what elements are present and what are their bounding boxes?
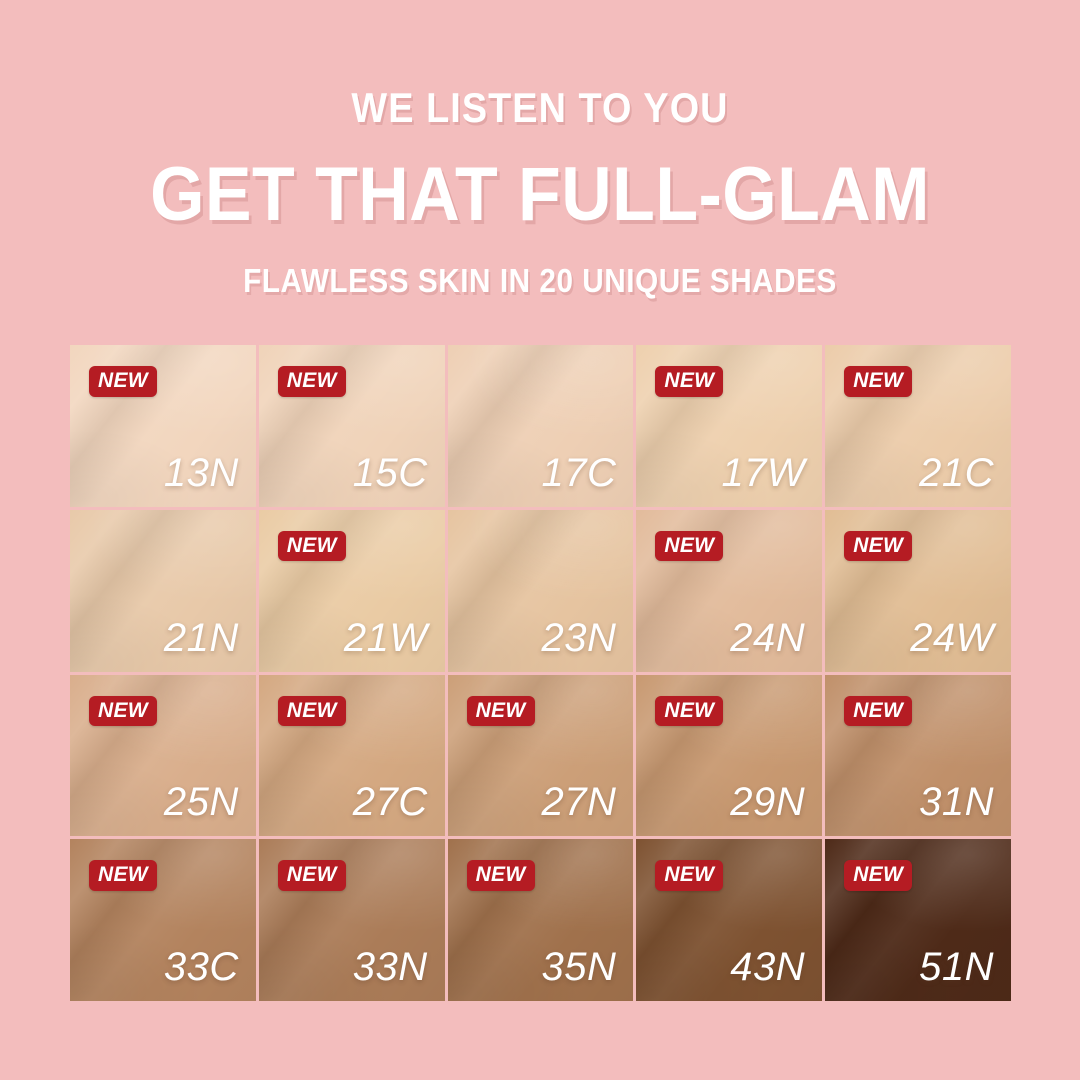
new-badge: NEW	[278, 696, 346, 727]
new-badge: NEW	[467, 696, 535, 727]
shade-swatch-27n[interactable]: NEW27N	[448, 675, 634, 837]
shade-code-label: 51N	[919, 947, 994, 987]
new-badge: NEW	[655, 366, 723, 397]
shade-swatch-21c[interactable]: NEW21C	[825, 345, 1011, 507]
shade-code-label: 21W	[344, 618, 428, 658]
shade-swatch-31n[interactable]: NEW31N	[825, 675, 1011, 837]
new-badge: NEW	[844, 531, 912, 562]
shade-code-label: 24W	[910, 618, 994, 658]
headline-subtitle: FLAWLESS SKIN IN 20 UNIQUE SHADES	[54, 264, 1026, 299]
shade-code-label: 33C	[164, 947, 239, 987]
shade-swatch-15c[interactable]: NEW15C	[259, 345, 445, 507]
shade-swatch-21n[interactable]: 21N	[70, 510, 256, 672]
new-badge: NEW	[844, 366, 912, 397]
new-badge: NEW	[89, 696, 157, 727]
shade-swatch-29n[interactable]: NEW29N	[636, 675, 822, 837]
shade-swatch-35n[interactable]: NEW35N	[448, 839, 634, 1001]
shade-code-label: 17W	[721, 453, 805, 493]
shade-code-label: 35N	[542, 947, 617, 987]
new-badge: NEW	[655, 696, 723, 727]
shade-code-label: 25N	[164, 782, 239, 822]
shade-swatch-21w[interactable]: NEW21W	[259, 510, 445, 672]
shade-code-label: 21C	[919, 453, 994, 493]
shade-code-label: 21N	[164, 618, 239, 658]
shade-swatch-23n[interactable]: 23N	[448, 510, 634, 672]
shade-swatch-33c[interactable]: NEW33C	[70, 839, 256, 1001]
shade-code-label: 33N	[353, 947, 428, 987]
new-badge: NEW	[655, 531, 723, 562]
new-badge: NEW	[655, 860, 723, 891]
new-badge: NEW	[89, 366, 157, 397]
new-badge: NEW	[89, 860, 157, 891]
headline-main: GET THAT FULL-GLAM	[43, 154, 1037, 236]
shade-swatch-27c[interactable]: NEW27C	[259, 675, 445, 837]
new-badge: NEW	[844, 860, 912, 891]
new-badge: NEW	[467, 860, 535, 891]
new-badge: NEW	[278, 366, 346, 397]
new-badge: NEW	[278, 860, 346, 891]
shade-code-label: 27N	[542, 782, 617, 822]
shade-swatch-24n[interactable]: NEW24N	[636, 510, 822, 672]
shade-swatch-24w[interactable]: NEW24W	[825, 510, 1011, 672]
shade-code-label: 29N	[730, 782, 805, 822]
shade-code-label: 23N	[542, 618, 617, 658]
shade-swatch-51n[interactable]: NEW51N	[825, 839, 1011, 1001]
headline-kicker: WE LISTEN TO YOU	[54, 86, 1026, 130]
shade-swatch-43n[interactable]: NEW43N	[636, 839, 822, 1001]
shade-swatch-25n[interactable]: NEW25N	[70, 675, 256, 837]
new-badge: NEW	[844, 696, 912, 727]
shade-code-label: 17C	[542, 453, 617, 493]
shade-code-label: 27C	[353, 782, 428, 822]
new-badge: NEW	[278, 531, 346, 562]
shade-swatch-grid: NEW13NNEW15C17CNEW17WNEW21C21NNEW21W23NN…	[70, 345, 1011, 1001]
shade-swatch-17c[interactable]: 17C	[448, 345, 634, 507]
shade-code-label: 15C	[353, 453, 428, 493]
shade-code-label: 24N	[730, 618, 805, 658]
shade-swatch-17w[interactable]: NEW17W	[636, 345, 822, 507]
shade-swatch-13n[interactable]: NEW13N	[70, 345, 256, 507]
promo-banner: WE LISTEN TO YOU GET THAT FULL-GLAM FLAW…	[0, 0, 1080, 1080]
shade-code-label: 31N	[919, 782, 994, 822]
shade-code-label: 43N	[730, 947, 805, 987]
shade-swatch-33n[interactable]: NEW33N	[259, 839, 445, 1001]
shade-code-label: 13N	[164, 453, 239, 493]
headline-block: WE LISTEN TO YOU GET THAT FULL-GLAM FLAW…	[0, 86, 1080, 299]
